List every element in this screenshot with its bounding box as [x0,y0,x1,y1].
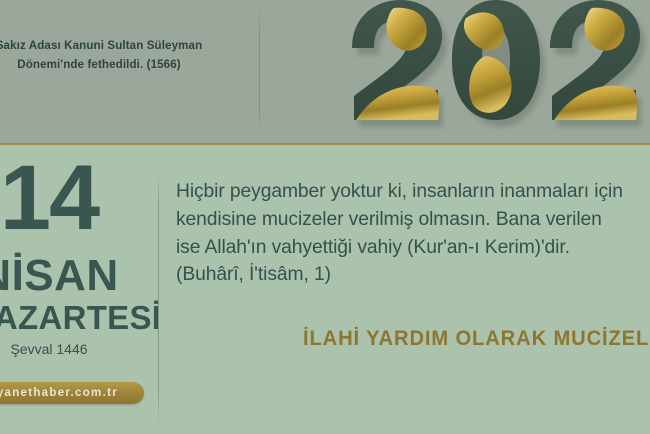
hadith-quote: Hiçbir peygamber yoktur ki, insanların i… [176,178,650,289]
top-vertical-divider [259,6,260,137]
month-name: NİSAN [0,254,124,298]
site-url-pill[interactable]: diyanethaber.com.tr [0,382,144,404]
day-number: 14 [0,152,124,244]
top-band: Sakız Adası Kanuni Sultan Süleyman Dönem… [0,0,650,143]
year-2025-svg [338,0,650,143]
content-vertical-divider [158,172,159,425]
historical-note: Sakız Adası Kanuni Sultan Süleyman Dönem… [0,36,212,74]
section-heading: İLAHİ YARDIM OLARAK MUCİZELER [303,326,650,351]
site-url-text: diyanethaber.com.tr [0,382,144,404]
year-2025-decoration [338,0,650,143]
gold-horizontal-divider [0,143,650,145]
daily-calendar-page: Sakız Adası Kanuni Sultan Süleyman Dönem… [0,0,650,434]
hijri-date: Şevval 1446 [0,342,124,356]
weekday-name: PAZARTESİ [0,301,124,334]
content-area: Hiçbir peygamber yoktur ki, insanların i… [176,146,650,434]
